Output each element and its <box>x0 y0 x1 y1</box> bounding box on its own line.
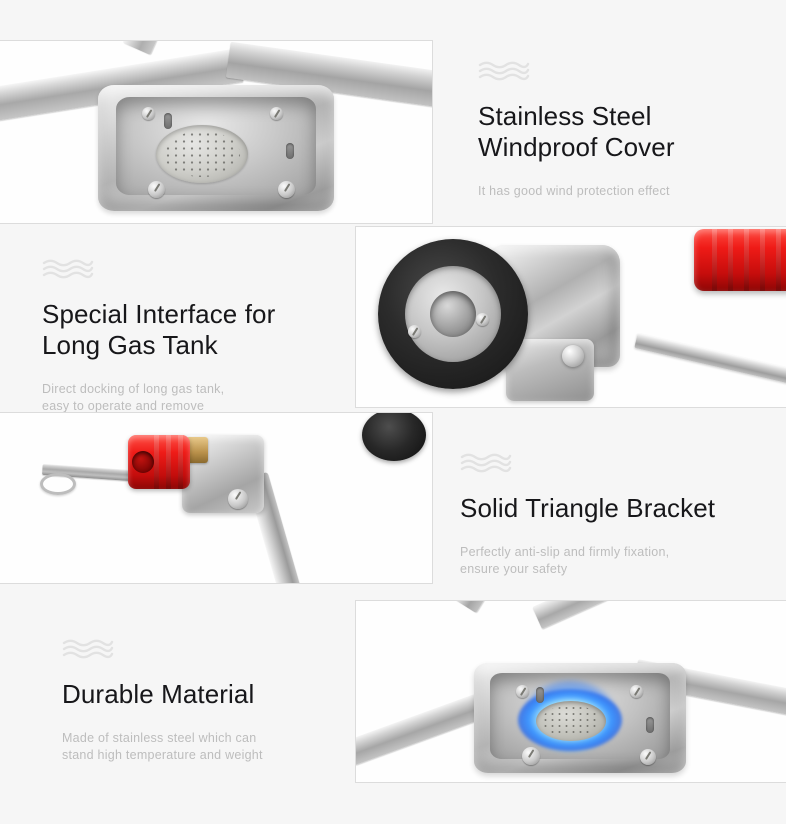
wave-lines-icon <box>42 258 362 285</box>
feature-subtitle: Perfectly anti-slip and firmly fixation,… <box>460 544 770 578</box>
burner-plate <box>536 701 606 741</box>
screw <box>516 685 529 698</box>
wave-lines-icon <box>62 638 362 665</box>
photo-triangle-bracket <box>0 413 432 583</box>
vent-slot <box>286 143 294 159</box>
collar-bore <box>430 291 476 337</box>
feature-subtitle: Direct docking of long gas tank, easy to… <box>42 381 362 415</box>
product-feature-page: Stainless Steel Windproof Cover It has g… <box>0 0 786 824</box>
screw <box>142 107 155 120</box>
vent-slot <box>536 687 544 703</box>
stove-windshield-body <box>474 663 686 773</box>
knob-rib <box>712 229 717 291</box>
feature-image-windproof-cover <box>0 40 433 224</box>
feature-title: Stainless Steel Windproof Cover <box>478 101 778 163</box>
knob-rib <box>776 229 781 291</box>
leg-foot-loop <box>40 473 76 495</box>
pot-support-arm-top-left <box>454 601 535 613</box>
feature-text-durable-material: Durable Material Made of stainless steel… <box>62 638 362 764</box>
rivet <box>522 747 540 765</box>
knob-rib <box>154 435 159 489</box>
feature-subtitle: It has good wind protection effect <box>478 183 778 200</box>
screw <box>408 325 421 338</box>
rivet <box>148 181 165 198</box>
knob-rib <box>744 229 749 291</box>
screw <box>630 685 643 698</box>
stove-windshield-body <box>98 85 334 211</box>
feature-subtitle: Made of stainless steel which can stand … <box>62 730 362 764</box>
feature-title: Solid Triangle Bracket <box>460 493 770 524</box>
photo-valve-head <box>356 227 786 407</box>
rivet <box>562 345 584 367</box>
gas-control-knob[interactable] <box>128 435 190 489</box>
screw <box>228 489 248 509</box>
gas-tank-interface-collar <box>378 239 528 389</box>
knob-rib <box>178 435 183 489</box>
gas-control-knob[interactable] <box>694 229 786 291</box>
screw <box>270 107 283 120</box>
photo-windproof-cover <box>0 41 432 223</box>
feature-text-windproof-cover: Stainless Steel Windproof Cover It has g… <box>478 60 778 200</box>
rivet <box>278 181 295 198</box>
rivet <box>640 749 656 765</box>
knob-rib <box>166 435 171 489</box>
photo-lit-stove <box>356 601 786 782</box>
support-leg <box>634 333 786 395</box>
burner-plate <box>156 125 248 183</box>
screw <box>476 313 489 326</box>
knob-rib <box>760 229 765 291</box>
burner-perforations <box>164 131 240 177</box>
pot-support-arm-top-right <box>532 601 651 629</box>
gas-tank-interface-collar <box>362 413 426 461</box>
feature-image-solid-triangle-bracket <box>0 412 433 584</box>
feature-title: Durable Material <box>62 679 362 710</box>
wave-lines-icon <box>460 452 770 479</box>
vent-slot <box>646 717 654 733</box>
wave-lines-icon <box>478 60 778 87</box>
feature-image-durable-material <box>355 600 786 783</box>
feature-text-solid-triangle-bracket: Solid Triangle Bracket Perfectly anti-sl… <box>460 452 770 578</box>
feature-title: Special Interface for Long Gas Tank <box>42 299 362 361</box>
vent-slot <box>164 113 172 129</box>
burner-perforations <box>542 705 600 737</box>
pot-support-arm-top <box>123 41 199 55</box>
feature-text-long-gas-tank-interface: Special Interface for Long Gas Tank Dire… <box>42 258 362 415</box>
feature-image-long-gas-tank-interface <box>355 226 786 408</box>
knob-rib <box>728 229 733 291</box>
knob-bore <box>132 451 154 473</box>
